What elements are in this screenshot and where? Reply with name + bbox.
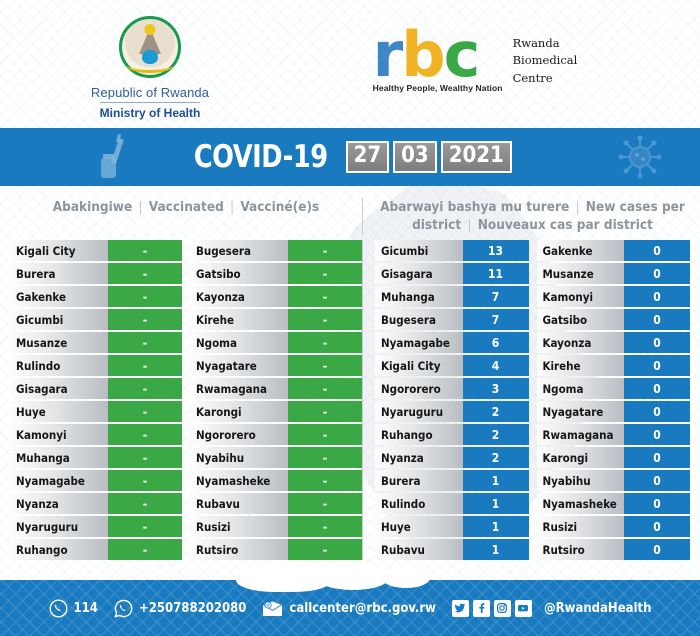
table-row: Gatsibo0 <box>537 309 691 330</box>
district-name: Kayonza <box>537 332 625 353</box>
district-value: - <box>288 286 362 307</box>
district-value: - <box>288 516 362 537</box>
district-value: - <box>288 332 362 353</box>
coronavirus-icon <box>618 135 662 179</box>
district-value: - <box>288 447 362 468</box>
table-row: Kayonza- <box>190 286 362 307</box>
table-row: Kigali City4 <box>375 355 529 376</box>
sun-emblem-icon <box>145 24 156 35</box>
district-value: - <box>108 493 182 514</box>
table-row: Gakenke- <box>10 286 182 307</box>
date-year: 2021 <box>441 141 512 173</box>
district-value: 7 <box>463 286 529 307</box>
district-value: 6 <box>463 332 529 353</box>
district-value: 4 <box>463 355 529 376</box>
separator-1: | <box>136 199 144 215</box>
table-row: Nyaruguru- <box>10 516 182 537</box>
district-name: Burera <box>10 263 108 284</box>
district-value: 0 <box>624 286 690 307</box>
new-cases-column-2: Gakenke0Musanze0Kamonyi0Gatsibo0Kayonza0… <box>537 240 691 560</box>
hotline-number: 114 <box>74 601 98 616</box>
table-row: Gisagara- <box>10 378 182 399</box>
phone-icon <box>49 599 68 618</box>
svg-text:@: @ <box>266 602 270 607</box>
district-name: Ngoma <box>537 378 625 399</box>
rbc-letter-c: c <box>444 18 479 91</box>
district-name: Gicumbi <box>375 240 463 261</box>
date-month: 03 <box>393 141 437 173</box>
facebook-icon[interactable] <box>473 600 490 617</box>
district-name: Nyamagabe <box>10 470 108 491</box>
district-value: 2 <box>463 401 529 422</box>
email-contact[interactable]: @ callcenter@rbc.gov.rw <box>262 600 436 617</box>
district-value: - <box>108 309 182 330</box>
district-name: Rubavu <box>375 539 463 560</box>
vaccinated-title: Abakingiwe | Vaccinated | Vacciné(e)s <box>10 198 362 216</box>
table-row: Karongi- <box>190 401 362 422</box>
district-value: 0 <box>624 401 690 422</box>
district-name: Nyanza <box>10 493 108 514</box>
rbc-tagline: Healthy People, Wealthy Nation <box>373 83 503 93</box>
district-name: Karongi <box>190 401 288 422</box>
table-row: Huye1 <box>375 516 529 537</box>
district-name: Bugesera <box>190 240 288 261</box>
table-row: Rutsiro0 <box>537 539 691 560</box>
district-value: - <box>288 263 362 284</box>
table-row: Rwamagana- <box>190 378 362 399</box>
new-cases-title-kiny: Abarwayi bashya mu turere <box>380 199 569 215</box>
district-name: Musanze <box>537 263 625 284</box>
district-name: Ngoma <box>190 332 288 353</box>
table-row: Muhanga- <box>10 447 182 468</box>
district-name: Muhanga <box>10 447 108 468</box>
district-value: - <box>288 240 362 261</box>
district-name: Gakenke <box>537 240 625 261</box>
district-value: 2 <box>463 447 529 468</box>
district-name: Gatsibo <box>537 309 625 330</box>
district-value: 2 <box>463 424 529 445</box>
table-row: Rusizi0 <box>537 516 691 537</box>
table-row: Rulindo1 <box>375 493 529 514</box>
district-value: - <box>288 470 362 491</box>
table-row: Ngororero- <box>190 424 362 445</box>
table-row: Gicumbi- <box>10 309 182 330</box>
district-value: - <box>288 539 362 560</box>
table-row: Nyabihu0 <box>537 470 691 491</box>
table-row: Muhanga7 <box>375 286 529 307</box>
district-value: 3 <box>463 378 529 399</box>
district-value: - <box>108 424 182 445</box>
district-value: - <box>288 378 362 399</box>
section-headers: Abakingiwe | Vaccinated | Vacciné(e)s Ab… <box>0 186 700 234</box>
new-cases-table: Gicumbi13Gisagara11Muhanga7Bugesera7Nyam… <box>362 240 690 560</box>
table-row: Gisagara11 <box>375 263 529 284</box>
district-value: 0 <box>624 355 690 376</box>
district-value: - <box>108 263 182 284</box>
district-name: Nyagatare <box>190 355 288 376</box>
district-value: 13 <box>463 240 529 261</box>
rbc-letter-r: r <box>373 18 402 91</box>
district-name: Muhanga <box>375 286 463 307</box>
table-row: Nyamagabe6 <box>375 332 529 353</box>
table-row: Kirehe0 <box>537 355 691 376</box>
district-name: Nyamagabe <box>375 332 463 353</box>
vaccinated-column-2: Bugesera-Gatsibo-Kayonza-Kirehe-Ngoma-Ny… <box>190 240 362 560</box>
district-name: Nyamasheke <box>537 493 625 514</box>
table-row: Musanze0 <box>537 263 691 284</box>
district-value: - <box>108 470 182 491</box>
district-name: Rubavu <box>190 493 288 514</box>
ribbon-icon <box>126 57 174 73</box>
district-value: 0 <box>624 516 690 537</box>
government-branding: Republic of Rwanda Ministry of Health <box>0 8 300 120</box>
district-name: Rusizi <box>190 516 288 537</box>
district-name: Ruhango <box>10 539 108 560</box>
district-name: Ngororero <box>375 378 463 399</box>
district-name: Kigali City <box>375 355 463 376</box>
district-value: 1 <box>463 516 529 537</box>
table-row: Nyamasheke- <box>190 470 362 491</box>
district-value: 0 <box>624 332 690 353</box>
ministry-label: Ministry of Health <box>100 102 201 120</box>
social-icons <box>452 600 532 617</box>
district-value: - <box>108 286 182 307</box>
table-row: Karongi0 <box>537 447 691 468</box>
district-name: Nyabihu <box>190 447 288 468</box>
table-row: Gakenke0 <box>537 240 691 261</box>
separator-3: | <box>573 199 581 215</box>
table-row: Kayonza0 <box>537 332 691 353</box>
covid-banner: COVID-19 27 03 2021 <box>0 128 700 186</box>
district-value: - <box>108 539 182 560</box>
table-row: Burera1 <box>375 470 529 491</box>
new-cases-column-1: Gicumbi13Gisagara11Muhanga7Bugesera7Nyam… <box>375 240 529 560</box>
date-day: 27 <box>346 141 390 173</box>
district-name: Nyaruguru <box>10 516 108 537</box>
table-row: Kirehe- <box>190 309 362 330</box>
table-row: Rubavu- <box>190 493 362 514</box>
table-row: Rubavu1 <box>375 539 529 560</box>
district-value: - <box>288 309 362 330</box>
district-name: Karongi <box>537 447 625 468</box>
district-value: - <box>108 332 182 353</box>
republic-label: Republic of Rwanda <box>91 85 209 100</box>
table-row: Rulindo- <box>10 355 182 376</box>
district-value: - <box>288 424 362 445</box>
new-cases-title-fr: Nouveaux cas par district <box>478 217 653 233</box>
rwanda-coat-of-arms-icon <box>119 16 181 78</box>
table-row: Kamonyi- <box>10 424 182 445</box>
district-value: 7 <box>463 309 529 330</box>
vaccinated-title-kiny: Abakingiwe <box>53 199 132 215</box>
table-row: Nyanza2 <box>375 447 529 468</box>
social-handle: @RwandaHealth <box>544 601 652 616</box>
vaccinated-title-fr: Vacciné(e)s <box>240 199 319 215</box>
district-name: Nyamasheke <box>190 470 288 491</box>
district-name: Ruhango <box>375 424 463 445</box>
district-name: Gakenke <box>10 286 108 307</box>
table-row: Kamonyi0 <box>537 286 691 307</box>
email-address: callcenter@rbc.gov.rw <box>289 601 436 616</box>
district-name: Bugesera <box>375 309 463 330</box>
district-name: Rwamagana <box>537 424 625 445</box>
district-name: Nyaruguru <box>375 401 463 422</box>
table-row: Ngoma0 <box>537 378 691 399</box>
district-value: 0 <box>624 263 690 284</box>
district-value: 0 <box>624 470 690 491</box>
district-value: - <box>288 401 362 422</box>
district-value: - <box>108 447 182 468</box>
vaccinated-header: Abakingiwe | Vaccinated | Vacciné(e)s <box>10 198 362 234</box>
table-row: Burera- <box>10 263 182 284</box>
table-row: Nyamasheke0 <box>537 493 691 514</box>
table-row: Gicumbi13 <box>375 240 529 261</box>
rbc-branding: rbc Healthy People, Wealthy Nation Rwand… <box>300 29 700 100</box>
vaccinated-table: Kigali City-Burera-Gakenke-Gicumbi-Musan… <box>10 240 362 560</box>
district-value: - <box>108 378 182 399</box>
district-value: 0 <box>624 378 690 399</box>
district-value: 0 <box>624 447 690 468</box>
whatsapp-icon <box>114 599 133 618</box>
district-name: Kamonyi <box>537 286 625 307</box>
district-value: - <box>288 493 362 514</box>
district-name: Gatsibo <box>190 263 288 284</box>
district-name: Rusizi <box>537 516 625 537</box>
district-value: 11 <box>463 263 529 284</box>
district-name: Gisagara <box>375 263 463 284</box>
district-value: - <box>288 355 362 376</box>
table-row: Rutsiro- <box>190 539 362 560</box>
district-name: Huye <box>375 516 463 537</box>
district-name: Huye <box>10 401 108 422</box>
table-row: Bugesera- <box>190 240 362 261</box>
table-row: Nyaruguru2 <box>375 401 529 422</box>
table-row: Gatsibo- <box>190 263 362 284</box>
district-name: Musanze <box>10 332 108 353</box>
contact-footer: 114 +250788202080 @ callcenter@rbc.gov.r… <box>0 580 700 636</box>
hotline-contact[interactable]: 114 <box>49 599 98 618</box>
district-name: Ngororero <box>190 424 288 445</box>
rbc-full-name: Rwanda Biomedical Centre <box>513 29 578 88</box>
district-name: Gisagara <box>10 378 108 399</box>
district-value: 1 <box>463 470 529 491</box>
banner-title: COVID-19 <box>194 139 328 175</box>
table-row: Ngororero3 <box>375 378 529 399</box>
district-value: 0 <box>624 240 690 261</box>
youtube-icon[interactable] <box>515 600 532 617</box>
district-value: 1 <box>463 539 529 560</box>
vaccinated-column-1: Kigali City-Burera-Gakenke-Gicumbi-Musan… <box>10 240 182 560</box>
rbc-name-line-2: Biomedical <box>513 52 578 70</box>
rbc-letter-b: b <box>401 18 443 91</box>
rbc-name-line-3: Centre <box>513 70 578 88</box>
district-value: - <box>108 240 182 261</box>
district-name: Rutsiro <box>190 539 288 560</box>
vaccinated-title-en: Vaccinated <box>149 199 224 215</box>
email-icon: @ <box>262 600 283 617</box>
table-row: Nyagatare- <box>190 355 362 376</box>
table-row: Ruhango- <box>10 539 182 560</box>
district-value: 0 <box>624 309 690 330</box>
district-name: Kirehe <box>537 355 625 376</box>
new-cases-title: Abarwayi bashya mu turere | New cases pe… <box>375 198 690 234</box>
district-name: Nyabihu <box>537 470 625 491</box>
table-row: Nyamagabe- <box>10 470 182 491</box>
table-row: Rwamagana0 <box>537 424 691 445</box>
separator-4: | <box>465 217 473 233</box>
district-name: Nyagatare <box>537 401 625 422</box>
district-value: - <box>108 401 182 422</box>
district-name: Rwamagana <box>190 378 288 399</box>
district-value: 1 <box>463 493 529 514</box>
district-name: Kayonza <box>190 286 288 307</box>
instagram-icon[interactable] <box>494 600 511 617</box>
district-value: - <box>108 516 182 537</box>
district-name: Rulindo <box>10 355 108 376</box>
data-tables: Kigali City-Burera-Gakenke-Gicumbi-Musan… <box>0 234 700 560</box>
district-name: Rutsiro <box>537 539 625 560</box>
district-name: Gicumbi <box>10 309 108 330</box>
district-name: Kamonyi <box>10 424 108 445</box>
twitter-icon[interactable] <box>452 600 469 617</box>
table-row: Rusizi- <box>190 516 362 537</box>
table-row: Ngoma- <box>190 332 362 353</box>
table-row: Huye- <box>10 401 182 422</box>
district-value: - <box>108 355 182 376</box>
rbc-logo-letters: rbc <box>373 29 503 82</box>
district-name: Kigali City <box>10 240 108 261</box>
district-value: 0 <box>624 424 690 445</box>
district-value: 0 <box>624 539 690 560</box>
table-row: Nyanza- <box>10 493 182 514</box>
rbc-name-line-1: Rwanda <box>513 35 578 53</box>
table-row: Nyagatare0 <box>537 401 691 422</box>
new-cases-header: Abarwayi bashya mu turere | New cases pe… <box>362 198 690 234</box>
date-display: 27 03 2021 <box>346 141 512 173</box>
social-media-group: @RwandaHealth <box>452 600 652 617</box>
table-row: Bugesera7 <box>375 309 529 330</box>
district-name: Kirehe <box>190 309 288 330</box>
whatsapp-number: +250788202080 <box>139 601 246 616</box>
whatsapp-contact[interactable]: +250788202080 <box>114 599 246 618</box>
rbc-logo: rbc Healthy People, Wealthy Nation <box>373 29 503 94</box>
table-row: Ruhango2 <box>375 424 529 445</box>
table-row: Musanze- <box>10 332 182 353</box>
syringe-vaccine-icon <box>88 134 132 180</box>
district-name: Burera <box>375 470 463 491</box>
table-row: Kigali City- <box>10 240 182 261</box>
district-name: Nyanza <box>375 447 463 468</box>
page-header: Republic of Rwanda Ministry of Health rb… <box>0 0 700 128</box>
table-row: Nyabihu- <box>190 447 362 468</box>
separator-2: | <box>228 199 236 215</box>
district-value: 0 <box>624 493 690 514</box>
district-name: Rulindo <box>375 493 463 514</box>
